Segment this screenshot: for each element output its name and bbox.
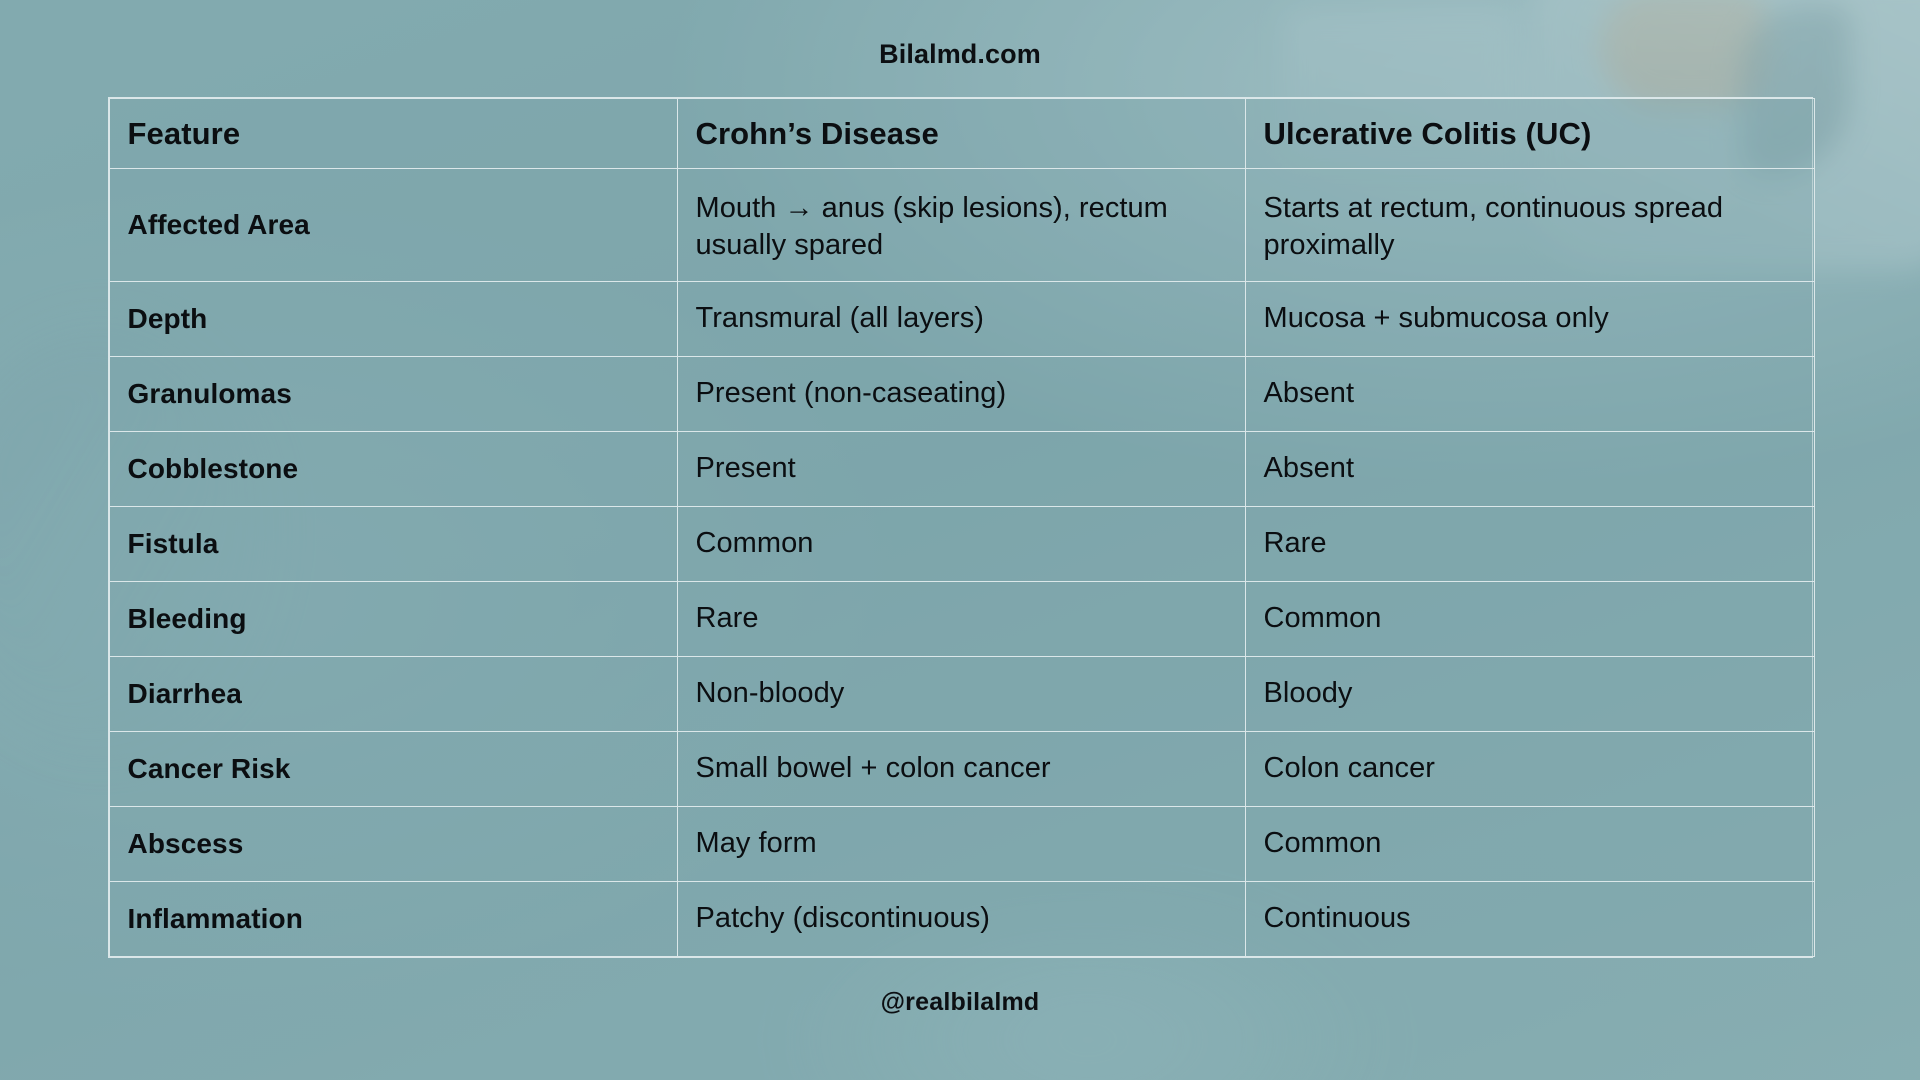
cell-uc: Rare [1245,507,1814,582]
cell-crohns: Non-bloody [677,657,1245,732]
cell-crohns: Small bowel + colon cancer [677,732,1245,807]
table-header: Feature Crohn’s Disease Ulcerative Colit… [109,99,1814,169]
cell-crohns: Mouth → anus (skip lesions), rectum usua… [677,169,1245,282]
row-label-feature: Diarrhea [109,657,677,732]
table-header-row: Feature Crohn’s Disease Ulcerative Colit… [109,99,1814,169]
row-label-feature: Cobblestone [109,432,677,507]
row-label-feature: Abscess [109,807,677,882]
table-row: InflammationPatchy (discontinuous)Contin… [109,882,1814,957]
cell-crohns: Rare [677,582,1245,657]
row-label-feature: Granulomas [109,357,677,432]
site-title: Bilalmd.com [879,41,1041,68]
cell-crohns: Present [677,432,1245,507]
cell-uc: Mucosa + submucosa only [1245,282,1814,357]
cell-uc: Absent [1245,357,1814,432]
cell-crohns: May form [677,807,1245,882]
cell-crohns: Present (non-caseating) [677,357,1245,432]
table-row: DiarrheaNon-bloodyBloody [109,657,1814,732]
social-handle: @realbilalmd [881,988,1040,1017]
row-label-feature: Depth [109,282,677,357]
table-row: Cancer RiskSmall bowel + colon cancerCol… [109,732,1814,807]
row-label-feature: Fistula [109,507,677,582]
column-header-crohns: Crohn’s Disease [677,99,1245,169]
cell-uc: Common [1245,582,1814,657]
comparison-table-wrapper: Feature Crohn’s Disease Ulcerative Colit… [108,97,1813,958]
row-label-feature: Inflammation [109,882,677,957]
table-row: CobblestonePresentAbsent [109,432,1814,507]
table-row: GranulomasPresent (non-caseating)Absent [109,357,1814,432]
cell-uc: Bloody [1245,657,1814,732]
column-header-feature: Feature [109,99,677,169]
table-row: AbscessMay formCommon [109,807,1814,882]
row-label-feature: Cancer Risk [109,732,677,807]
cell-crohns: Common [677,507,1245,582]
cell-uc: Colon cancer [1245,732,1814,807]
table-row: DepthTransmural (all layers)Mucosa + sub… [109,282,1814,357]
table-row: FistulaCommonRare [109,507,1814,582]
cell-uc: Common [1245,807,1814,882]
cell-crohns: Patchy (discontinuous) [677,882,1245,957]
slide-container: Bilalmd.com Feature Crohn’s Disease Ulce… [0,0,1920,1080]
table-row: Affected AreaMouth → anus (skip lesions)… [109,169,1814,282]
cell-uc: Absent [1245,432,1814,507]
comparison-table: Feature Crohn’s Disease Ulcerative Colit… [109,98,1815,957]
table-row: BleedingRareCommon [109,582,1814,657]
cell-crohns: Transmural (all layers) [677,282,1245,357]
row-label-feature: Affected Area [109,169,677,282]
table-body: Affected AreaMouth → anus (skip lesions)… [109,169,1814,957]
cell-uc: Starts at rectum, continuous spread prox… [1245,169,1814,282]
column-header-uc: Ulcerative Colitis (UC) [1245,99,1814,169]
row-label-feature: Bleeding [109,582,677,657]
cell-uc: Continuous [1245,882,1814,957]
